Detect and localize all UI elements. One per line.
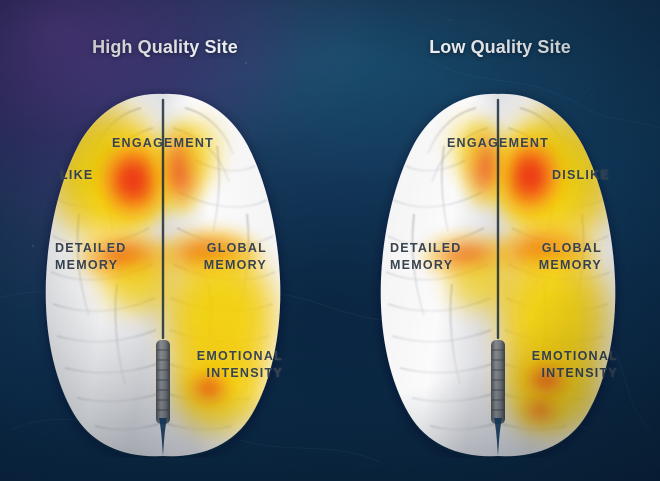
brain-diagram-high-quality: ENGAGEMENT LIKE DETAILED MEMORY GLOBAL M… — [13, 88, 313, 458]
panel-title-high-quality: High Quality Site — [15, 37, 315, 58]
panel-title-low-quality: Low Quality Site — [350, 37, 650, 58]
brain-diagram-low-quality: ENGAGEMENT DISLIKE DETAILED MEMORY GLOBA… — [348, 88, 648, 458]
brain-heatmap-figure: High Quality Site — [0, 0, 660, 481]
